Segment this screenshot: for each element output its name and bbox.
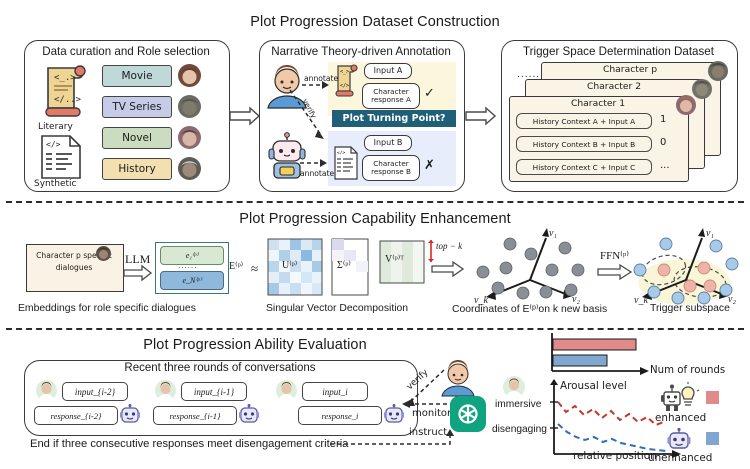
category-tvseries[interactable]: TV Series — [102, 96, 172, 118]
section-3-title: Plot Progression Ability Evaluation — [0, 337, 630, 353]
caption-embeddings: Embeddings for role specific dialogues — [18, 303, 196, 314]
input-a-label: Input A — [374, 66, 403, 75]
section-2-title: Plot Progression Capability Enhancement — [0, 211, 750, 227]
character-card-2-label: Character 2 — [525, 81, 703, 92]
ffn-label: FFN⁽ᵖ⁾ — [600, 249, 629, 262]
avatar-history — [178, 157, 201, 180]
avatar-user-round-1 — [36, 380, 57, 401]
plot-turning-point-banner: Plot Turning Point? — [332, 110, 456, 127]
character-response-b-label: Character response B — [363, 160, 419, 177]
category-movie[interactable]: Movie — [102, 65, 172, 87]
scroll-icon: <_.> </..> — [36, 62, 94, 124]
avatar-tvseries — [178, 95, 201, 118]
check-mark-a: ✓ — [424, 86, 435, 101]
input-b-label: Input B — [374, 138, 403, 147]
avatar-character-1 — [676, 95, 696, 115]
avatar-user-round-2 — [155, 380, 176, 401]
svg-text:</>: </> — [337, 150, 346, 156]
character-response-a-note: Character response A — [362, 83, 420, 109]
input-chip-round-2: input_{i-1} — [181, 382, 247, 401]
openai-logo-icon — [450, 396, 486, 432]
sigma-matrix-label: Σ⁽ᵖ⁾ — [337, 260, 351, 271]
response-chip-round-3: response_i — [298, 406, 382, 425]
embedding-dots: ...... — [178, 262, 197, 270]
row-value: 0 — [660, 137, 666, 148]
legend-label-unenhanced: unenhanced — [648, 452, 712, 464]
caption-coordinates: Coordinates of E⁽ᵖ⁾on k new basis — [452, 303, 607, 315]
input-label-round-3: input_i — [322, 387, 348, 397]
topk-arrow-icon — [426, 240, 436, 262]
category-tvseries-label: TV Series — [112, 101, 161, 113]
panel-data-curation-title: Data curation and Role selection — [24, 45, 228, 58]
line-chart-xlabel: relative position — [573, 450, 657, 462]
category-history-label: History — [118, 163, 155, 175]
avatar-state-user — [503, 376, 525, 398]
scroll-a-icon: <_> </> — [333, 63, 359, 101]
state-label-disengaging: disengaging — [492, 424, 547, 435]
row-text: History Context C + Input C — [533, 163, 636, 172]
table-row: History Context C + Input C — [516, 159, 652, 175]
row-text: History Context B + Input B — [533, 140, 635, 149]
plot-turning-point-label: Plot Turning Point? — [343, 113, 446, 124]
robot-bulb-icon — [660, 384, 700, 412]
category-history[interactable]: History — [102, 158, 172, 180]
document-icon: </> — [38, 134, 86, 180]
document-b-icon: </> — [333, 146, 359, 180]
input-label-round-2: input_{i-1} — [194, 387, 234, 397]
legend-swatch-unenhanced — [706, 432, 719, 445]
topk-label: top − k — [436, 241, 462, 251]
panel-trigger-dataset-title: Trigger Space Determination Dataset — [501, 45, 736, 58]
panel-annotation-title: Narrative Theory-driven Annotation — [259, 45, 463, 58]
avatar-novel — [178, 126, 201, 149]
axis-v1-label-right: v₁ — [706, 228, 714, 239]
bar-chart-xlabel: Num of rounds — [650, 365, 725, 376]
embedding-bottom-label: e_N⁽ᵖ⁾ — [182, 276, 201, 285]
input-label-round-1: input_{i-2} — [75, 387, 115, 397]
axis-v1-label-left: v₁ — [549, 228, 557, 239]
line-chart-ylabel: Arousal level — [560, 380, 627, 392]
arrow-monitor — [396, 398, 454, 410]
table-row: History Context B + Input B — [516, 136, 652, 152]
avatar-user-round-3 — [276, 380, 297, 401]
state-label-immersive: immersive — [495, 399, 541, 410]
arrow-panel1-to-panel2 — [230, 108, 260, 124]
u-matrix-label: U⁽ᵖ⁾ — [282, 260, 297, 271]
human-evaluator-icon — [440, 358, 476, 396]
arrow-to-embeddings — [124, 266, 152, 280]
llm-label: LLM — [125, 252, 150, 267]
row-value: 1 — [660, 114, 666, 125]
input-a-note: Input A — [364, 63, 412, 79]
robot-icon-round-2 — [239, 404, 259, 425]
robot-icon-legend — [667, 428, 691, 452]
category-novel[interactable]: Novel — [102, 127, 172, 149]
response-chip-round-2: response_{i-1} — [153, 406, 237, 425]
legend-swatch-enhanced — [706, 391, 719, 404]
table-row: History Context A + Input A — [516, 113, 652, 129]
response-label-round-2: response_{i-1} — [170, 411, 221, 421]
robot-icon-round-1 — [120, 404, 140, 425]
avatar-character-p-small — [96, 246, 111, 261]
arrow-to-trigger-subspace — [598, 265, 632, 279]
svg-text:</>: </> — [340, 83, 349, 89]
input-chip-round-1: input_{i-2} — [62, 382, 128, 401]
svg-text:</..>: </..> — [54, 95, 82, 105]
input-chip-round-3: input_i — [302, 382, 368, 401]
caption-svd: Singular Vector Decomposition — [266, 303, 408, 314]
arrow-panel2-to-panel3 — [466, 108, 496, 124]
arrow-to-coordinates — [432, 262, 464, 276]
avatar-character-p — [708, 61, 728, 81]
category-novel-label: Novel — [122, 132, 152, 144]
synthetic-label: Synthetic — [34, 179, 77, 189]
row-text: History Context A + Input A — [533, 117, 635, 126]
section-1-title: Plot Progression Dataset Construction — [0, 14, 750, 30]
embedding-matrix-label: E⁽ᵖ⁾ — [229, 261, 243, 272]
legend-label-enhanced: enhanced — [655, 412, 706, 424]
approx-symbol: ≈ — [251, 261, 258, 277]
svg-text:<_.>: <_.> — [54, 73, 76, 83]
response-label-round-3: response_i — [322, 411, 359, 421]
cross-mark-b: ✗ — [424, 158, 435, 173]
literary-label: Literary — [38, 122, 73, 132]
character-response-a-label: Character response A — [363, 88, 419, 105]
svg-text:<_>: <_> — [340, 69, 349, 75]
arrow-bot-annotate — [300, 158, 328, 168]
annotate-edge-label-bottom: annotate — [300, 169, 334, 178]
conversation-panel-title: Recent three rounds of conversations — [24, 362, 416, 374]
response-label-round-1: response_{i-2} — [51, 411, 102, 421]
disengagement-footer: End if three consecutive responses meet … — [30, 438, 348, 450]
v-matrix-label: V⁽ᵖ⁾ᵀ — [385, 254, 404, 265]
character-response-b-note: Character response B — [362, 155, 420, 181]
row-value: ... — [660, 160, 670, 171]
character-card-p-label: Character p — [541, 64, 719, 75]
response-chip-round-1: response_{i-2} — [34, 406, 118, 425]
section-divider-2 — [6, 328, 744, 330]
input-b-note: Input B — [364, 135, 412, 151]
avatar-movie — [178, 64, 201, 87]
caption-trigger-subspace: Trigger subspace — [650, 303, 730, 314]
character-card-1-label: Character 1 — [509, 98, 687, 109]
category-movie-label: Movie — [121, 70, 152, 82]
svg-text:</>: </> — [46, 140, 61, 149]
section-divider-1 — [6, 201, 744, 203]
embedding-top-label: e₁⁽ᵖ⁾ — [186, 251, 199, 260]
arrow-instruct — [330, 430, 460, 452]
axis-vk-label-right: v_k — [634, 295, 648, 306]
embedding-bottom-row: e_N⁽ᵖ⁾ — [160, 271, 224, 290]
